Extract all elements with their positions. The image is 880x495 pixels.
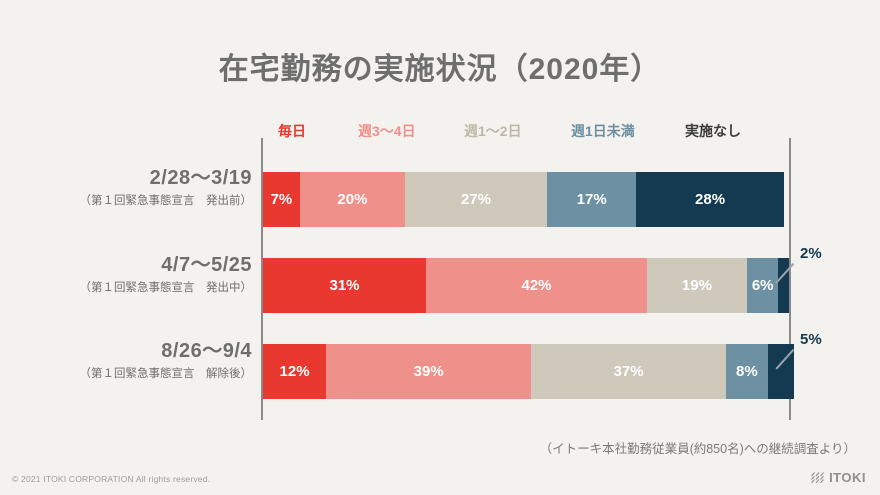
itoki-logo: ITOKI <box>811 470 866 485</box>
row-label-main-0: 2/28〜3/19 <box>0 166 252 190</box>
bar-segment-1-2: 19% <box>647 258 747 313</box>
legend-item-1: 週3〜4日 <box>358 121 416 141</box>
legend-label-2: 週1〜2日 <box>464 123 522 139</box>
bar-segment-0-4: 28% <box>636 172 783 227</box>
bar-segment-0-1: 20% <box>300 172 405 227</box>
callout-label-row-2: 5% <box>800 331 822 348</box>
itoki-hatch-icon <box>811 472 826 483</box>
legend-label-0: 毎日 <box>278 123 306 139</box>
legend-item-0: 毎日 <box>278 121 306 141</box>
row-label-0: 2/28〜3/19 （第１回緊急事態宣言 発出前） <box>0 166 252 210</box>
itoki-wordmark: ITOKI <box>829 470 866 485</box>
bar-segment-1-3: 6% <box>747 258 779 313</box>
legend-label-3: 週1日未満 <box>571 123 635 139</box>
row-label-sub-0: （第１回緊急事態宣言 発出前） <box>0 192 252 210</box>
copyright-text: © 2021 ITOKI CORPORATION All rights rese… <box>12 474 210 484</box>
bar-segment-0-2: 27% <box>405 172 547 227</box>
row-label-main-2: 8/26〜9/4 <box>0 339 252 363</box>
page-title: 在宅勤務の実施状況（2020年） <box>0 44 880 88</box>
chart-legend: 毎日 週3〜4日 週1〜2日 週1日未満 実施なし <box>261 121 791 145</box>
stacked-bar-row-2: 12%39%37%8% <box>263 344 794 399</box>
bar-segment-2-1: 39% <box>326 344 531 399</box>
source-note: （イトーキ本社勤務従業員(約850名)への継続調査より） <box>540 438 856 457</box>
legend-label-4: 実施なし <box>685 123 741 139</box>
row-label-main-1: 4/7〜5/25 <box>0 253 252 277</box>
row-label-sub-1: （第１回緊急事態宣言 発出中） <box>0 279 252 297</box>
bar-segment-0-0: 7% <box>263 172 300 227</box>
bar-segment-2-2: 37% <box>531 344 726 399</box>
legend-item-3: 週1日未満 <box>571 121 635 141</box>
stacked-bar-row-0: 7%20%27%17%28% <box>263 172 784 227</box>
stacked-bar-row-1: 31%42%19%6% <box>263 258 789 313</box>
bar-segment-2-0: 12% <box>263 344 326 399</box>
legend-item-2: 週1〜2日 <box>464 121 522 141</box>
bar-segment-1-1: 42% <box>426 258 647 313</box>
row-label-sub-2: （第１回緊急事態宣言 解除後） <box>0 365 252 383</box>
row-label-1: 4/7〜5/25 （第１回緊急事態宣言 発出中） <box>0 253 252 297</box>
bar-segment-2-3: 8% <box>726 344 768 399</box>
row-label-2: 8/26〜9/4 （第１回緊急事態宣言 解除後） <box>0 339 252 383</box>
legend-item-4: 実施なし <box>685 121 741 141</box>
bar-segment-0-3: 17% <box>547 172 636 227</box>
slide-canvas: 在宅勤務の実施状況（2020年） 毎日 週3〜4日 週1〜2日 週1日未満 実施… <box>0 0 880 495</box>
callout-label-row-1: 2% <box>800 245 822 262</box>
bar-segment-1-0: 31% <box>263 258 426 313</box>
bar-segment-1-4 <box>778 258 789 313</box>
legend-label-1: 週3〜4日 <box>358 123 416 139</box>
